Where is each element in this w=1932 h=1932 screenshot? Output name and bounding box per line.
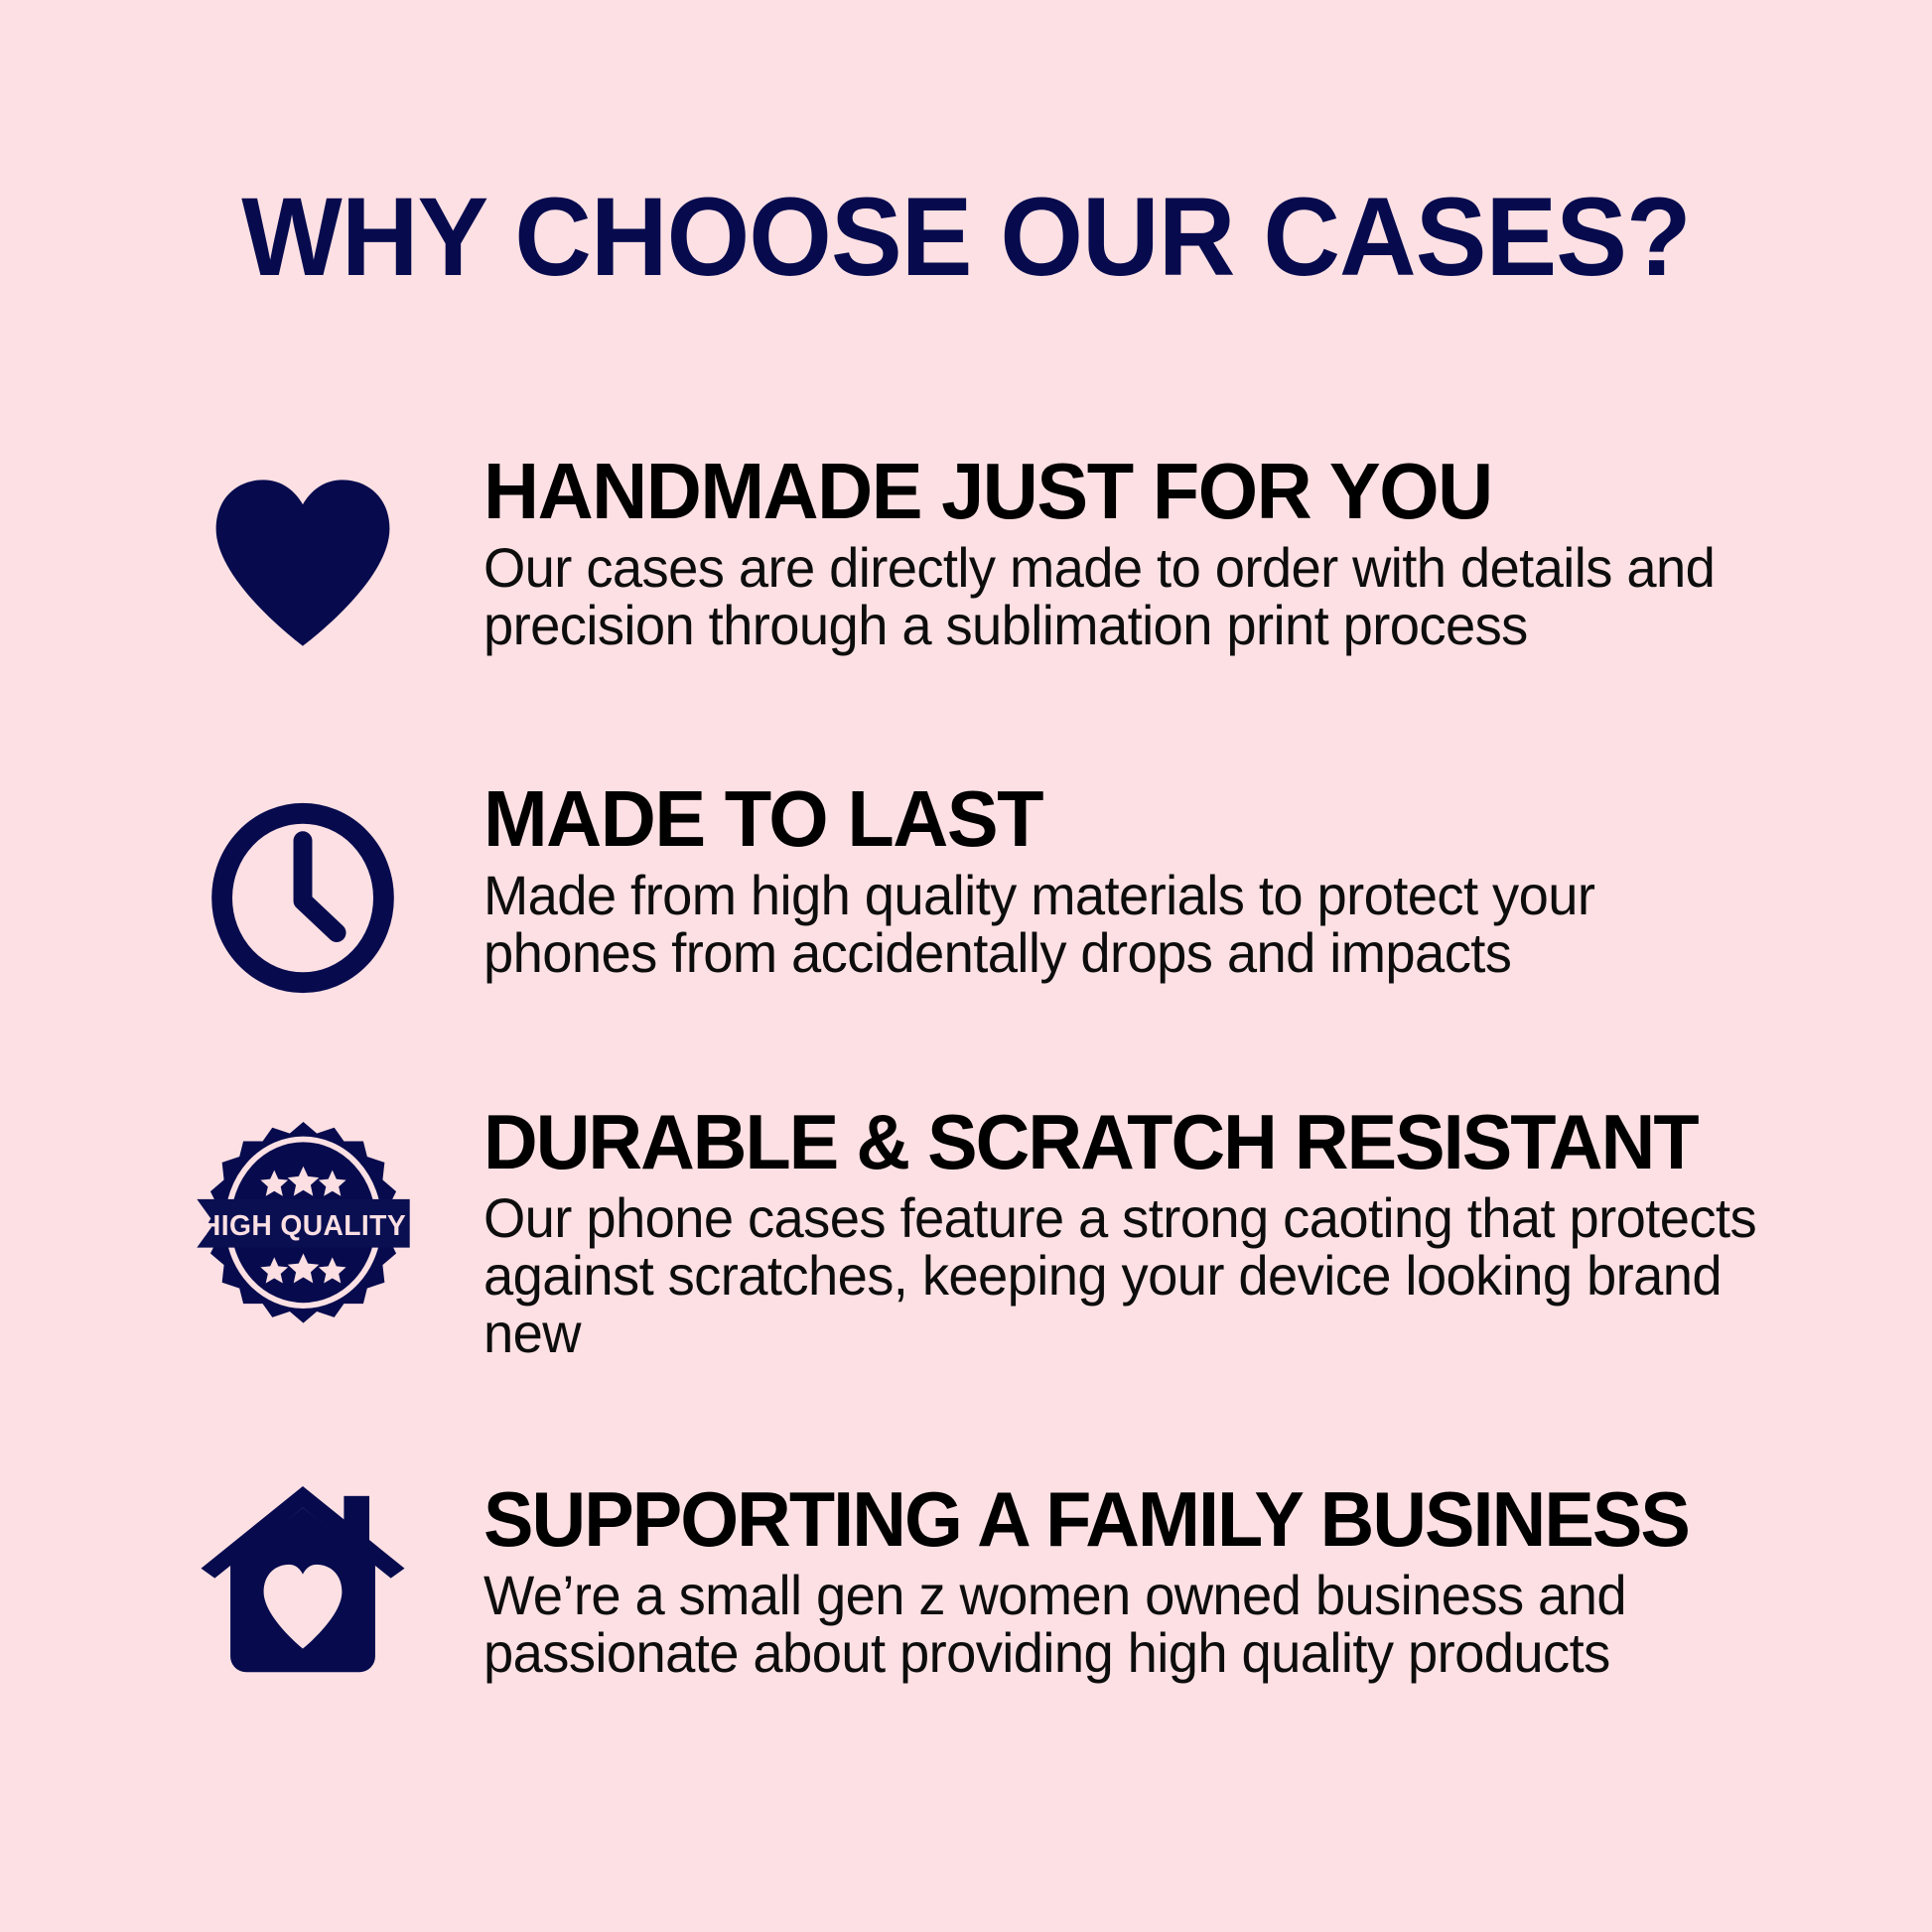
feature-title: HANDMADE JUST FOR YOU [483,452,1764,531]
feature-text-handmade: HANDMADE JUST FOR YOU Our cases are dire… [483,452,1804,654]
feature-text-durable: DURABLE & SCRATCH RESISTANT Our phone ca… [483,1102,1804,1362]
badge-label: HIGH QUALITY [200,1209,405,1241]
feature-item-durable: HIGH QUALITY DURABLE & SCRATCH RESISTANT… [0,1102,1932,1360]
feature-title: SUPPORTING A FAMILY BUSINESS [483,1479,1764,1559]
feature-body: We’re a small gen z women owned business… [483,1567,1764,1682]
feature-title: MADE TO LAST [483,779,1764,859]
house-heart-icon [189,1484,417,1703]
feature-body: Our cases are directly made to order wit… [483,539,1764,654]
feature-item-made-to-last: MADE TO LAST Made from high quality mate… [0,779,1932,1037]
feature-text-made-to-last: MADE TO LAST Made from high quality mate… [483,779,1804,982]
feature-item-handmade: HANDMADE JUST FOR YOU Our cases are dire… [0,452,1932,710]
feature-text-family-business: SUPPORTING A FAMILY BUSINESS We’re a sma… [483,1479,1804,1682]
page-title: WHY CHOOSE OUR CASES? [39,179,1893,296]
promo-poster: WHY CHOOSE OUR CASES? HANDMADE JUST FOR … [0,0,1932,1932]
high-quality-badge-icon: HIGH QUALITY [189,1120,417,1338]
heart-icon [199,474,407,692]
feature-body: Our phone cases feature a strong caoting… [483,1189,1764,1362]
clock-icon [199,801,407,1020]
feature-title: DURABLE & SCRATCH RESISTANT [483,1102,1764,1181]
feature-body: Made from high quality materials to prot… [483,867,1764,982]
feature-item-family-business: SUPPORTING A FAMILY BUSINESS We’re a sma… [0,1479,1932,1737]
